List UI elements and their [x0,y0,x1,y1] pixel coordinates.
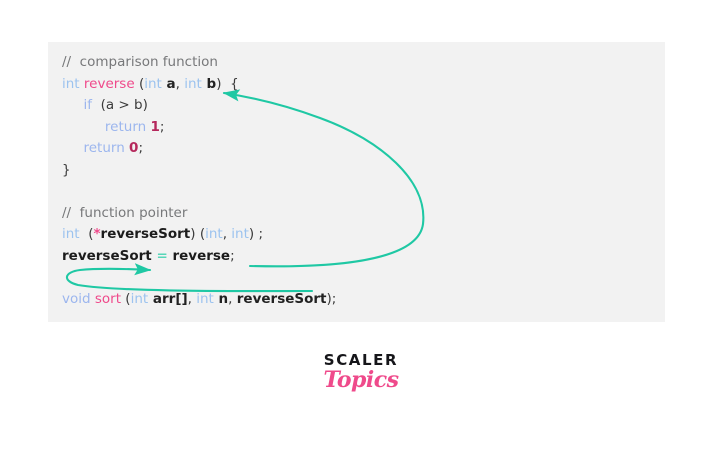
code-line: // function pointer [62,203,336,225]
code-token-type: int [196,291,214,307]
code-token-kw: void [62,291,95,307]
code-token-kw: return [83,140,129,156]
code-token-type: int [131,291,149,307]
code-token-punct: , [176,76,185,92]
code-token-punct: ); [327,291,337,307]
code-token-num: 1 [151,119,160,135]
code-token-plain: n [214,291,228,307]
code-token-kw: if [83,97,92,113]
code-token-punct: ( [135,76,145,92]
code-token-punct: ) { [216,76,238,92]
code-token-eq: = [156,248,167,264]
code-token-kw: return [105,119,151,135]
code-token-id: reverseSort [101,226,191,242]
code-line: // comparison function [62,52,336,74]
code-token-punct: } [62,162,71,178]
code-token-punct [62,119,105,135]
code-line: return 0; [62,138,336,160]
logo-wordmark-topics: Topics [311,368,411,392]
code-token-punct: , [228,291,237,307]
code-line: reverseSort = reverse; [62,246,336,268]
code-snippet-panel: // comparison functionint reverse (int a… [48,42,665,322]
code-token-comment: // function pointer [62,205,187,221]
code-token-punct: ; [230,248,235,264]
code-token-punct: ( [80,226,94,242]
code-token-punct [62,97,83,113]
scaler-topics-logo: SCALER Topics [311,352,411,392]
code-line: void sort (int arr[], int n, reverseSort… [62,289,336,311]
code-line: int (*reverseSort) (int, int) ; [62,224,336,246]
code-token-punct: ( [121,291,131,307]
code-token-punct: , [223,226,232,242]
code-line [62,267,336,289]
code-token-type: int [62,226,80,242]
code-token-punct: , [188,291,197,307]
code-line: return 1; [62,117,336,139]
code-token-fn: reverse [84,76,135,92]
code-token-type: int [231,226,249,242]
code-line: } [62,160,336,182]
code-token-plain: reverseSort [237,291,327,307]
code-line [62,181,336,203]
code-token-punct: ) ; [249,226,263,242]
code-token-comment: // comparison function [62,54,218,70]
code-token-fn: sort [95,291,121,307]
code-token-star: * [93,226,100,242]
code-token-type: int [144,76,162,92]
code-token-plain: b [202,76,216,92]
code-token-plain: arr[] [148,291,187,307]
code-line: int reverse (int a, int b) { [62,74,336,96]
code-token-type: int [184,76,202,92]
screenshot-canvas: // comparison functionint reverse (int a… [0,0,720,450]
code-token-punct [62,140,83,156]
code-token-plain: a [162,76,176,92]
code-token-punct: ) ( [190,226,205,242]
code-block: // comparison functionint reverse (int a… [62,52,336,310]
code-token-id: reverse [168,248,230,264]
code-token-type: int [62,76,84,92]
code-token-type: int [205,226,223,242]
code-token-punct: ; [138,140,143,156]
code-line: if (a > b) [62,95,336,117]
code-token-punct: ; [160,119,165,135]
code-token-punct: (a > b) [92,97,148,113]
code-token-id: reverseSort [62,248,156,264]
